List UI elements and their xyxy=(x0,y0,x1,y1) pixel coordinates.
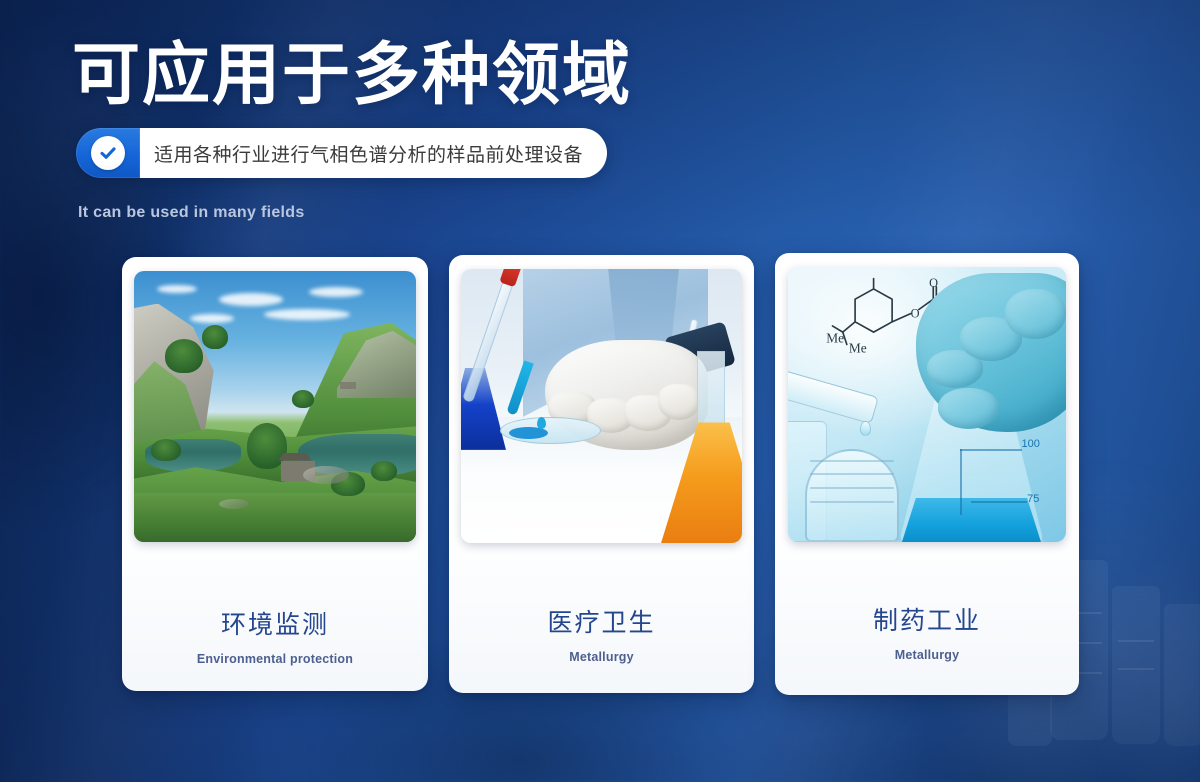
flask-mark-75: 75 xyxy=(1027,493,1039,505)
tagline-text: 适用各种行业进行气相色谱分析的样品前处理设备 xyxy=(140,128,607,178)
check-circle-icon xyxy=(91,136,125,170)
card-medical-health[interactable]: 医疗卫生 Metallurgy xyxy=(449,255,754,693)
card-subtitle: Environmental protection xyxy=(122,652,428,666)
card-caption: 医疗卫生 Metallurgy xyxy=(449,603,754,664)
flask-mark-100: 100 xyxy=(1022,438,1040,450)
tagline-pill: 适用各种行业进行气相色谱分析的样品前处理设备 xyxy=(76,128,607,178)
card-caption: 制药工业 Metallurgy xyxy=(775,601,1079,662)
pharmaceutical-lab-photo: Me Me O O OH xyxy=(788,267,1066,542)
card-pharmaceutical-industry[interactable]: Me Me O O OH xyxy=(775,253,1079,695)
laboratory-pipette-photo xyxy=(461,269,742,543)
mountain-valley-photo xyxy=(134,271,416,542)
card-title: 制药工业 xyxy=(775,601,1079,637)
svg-text:Me: Me xyxy=(826,330,844,345)
svg-text:Me: Me xyxy=(849,340,867,355)
card-caption: 环境监测 Environmental protection xyxy=(122,605,428,666)
check-badge xyxy=(76,128,140,178)
card-environmental-protection[interactable]: 环境监测 Environmental protection xyxy=(122,257,428,691)
card-subtitle: Metallurgy xyxy=(449,650,754,664)
page-title: 可应用于多种领域 xyxy=(72,36,632,114)
svg-text:O: O xyxy=(910,306,919,320)
page-subtitle: It can be used in many fields xyxy=(78,204,305,222)
card-title: 医疗卫生 xyxy=(449,603,754,639)
svg-text:O: O xyxy=(929,275,938,289)
card-subtitle: Metallurgy xyxy=(775,648,1079,662)
card-title: 环境监测 xyxy=(122,605,428,641)
